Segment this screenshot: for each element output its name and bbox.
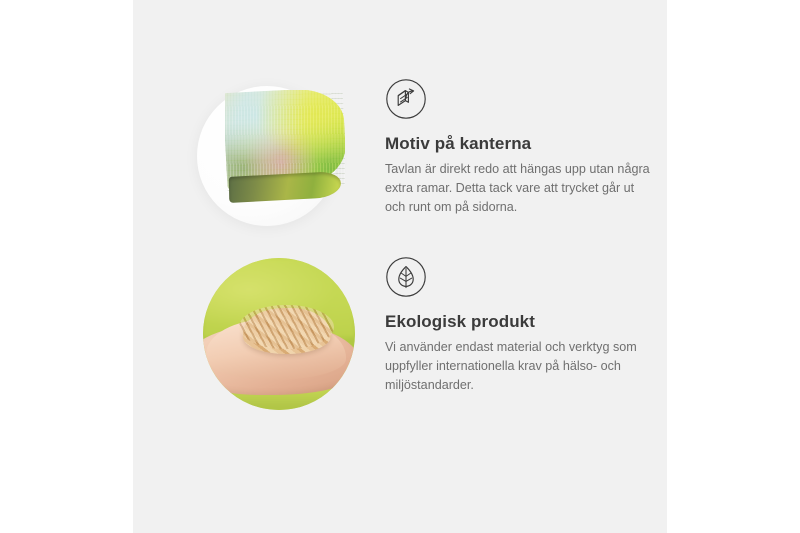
feature-description: Vi använder endast material och verktyg …: [385, 338, 657, 394]
canvas-wrapped-edge-icon: [385, 78, 427, 120]
feature-copy: Ekologisk produkt Vi använder endast mat…: [373, 250, 667, 394]
leaf-icon: [385, 256, 427, 298]
canvas-print-corner-photo: [133, 72, 373, 252]
feature-block-ekologisk-produkt: Ekologisk produkt Vi använder endast mat…: [133, 250, 667, 430]
circular-photo-mask: [203, 258, 355, 410]
feature-title: Motiv på kanterna: [385, 134, 667, 154]
canvas-side-edge: [229, 171, 341, 203]
product-info-graphic: Motiv på kanterna Tavlan är direkt redo …: [0, 0, 800, 533]
feature-block-motiv-pa-kanterna: Motiv på kanterna Tavlan är direkt redo …: [133, 72, 667, 252]
feature-copy: Motiv på kanterna Tavlan är direkt redo …: [373, 72, 667, 216]
canvas-corner-image: [225, 90, 345, 206]
hands-holding-wood-chips-photo: [133, 250, 373, 430]
wood-chips: [243, 308, 331, 354]
feature-description: Tavlan är direkt redo att hängas upp uta…: [385, 160, 657, 216]
feature-title: Ekologisk produkt: [385, 312, 667, 332]
